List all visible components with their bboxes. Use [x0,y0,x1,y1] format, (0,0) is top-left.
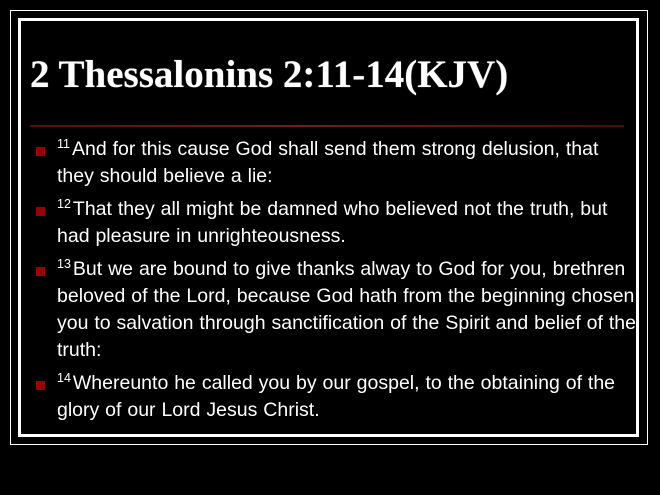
verse-text: 14Whereunto he called you by our gospel,… [57,370,636,424]
bullet-square-icon [36,381,45,390]
page-title: 2 Thessalonins 2:11-14(KJV) [30,53,627,97]
list-item: 14Whereunto he called you by our gospel,… [21,370,636,424]
list-item: 11And for this cause God shall send them… [21,136,636,190]
verse-number: 14 [57,371,73,385]
verse-number: 13 [57,257,73,271]
slide-content: 2 Thessalonins 2:11-14(KJV) 11And for th… [21,21,636,434]
slide-title-block: 2 Thessalonins 2:11-14(KJV) [30,53,627,97]
title-divider [30,125,624,127]
bullet-square-icon [36,267,45,276]
verse-list: 11And for this cause God shall send them… [21,136,636,430]
verse-body: That they all might be damned who believ… [57,198,607,247]
verse-text: 11And for this cause God shall send them… [57,136,636,190]
verse-body: But we are bound to give thanks alway to… [57,258,636,361]
verse-body: And for this cause God shall send them s… [57,138,598,187]
list-item: 12That they all might be damned who beli… [21,196,636,250]
verse-number: 12 [57,197,73,211]
bullet-square-icon [36,207,45,216]
presentation-slide: 2 Thessalonins 2:11-14(KJV) 11And for th… [0,0,660,495]
verse-body: Whereunto he called you by our gospel, t… [57,372,615,421]
list-item: 13But we are bound to give thanks alway … [21,256,636,364]
bullet-square-icon [36,147,45,156]
verse-text: 12That they all might be damned who beli… [57,196,636,250]
verse-text: 13But we are bound to give thanks alway … [57,256,636,364]
verse-number: 11 [57,137,72,151]
